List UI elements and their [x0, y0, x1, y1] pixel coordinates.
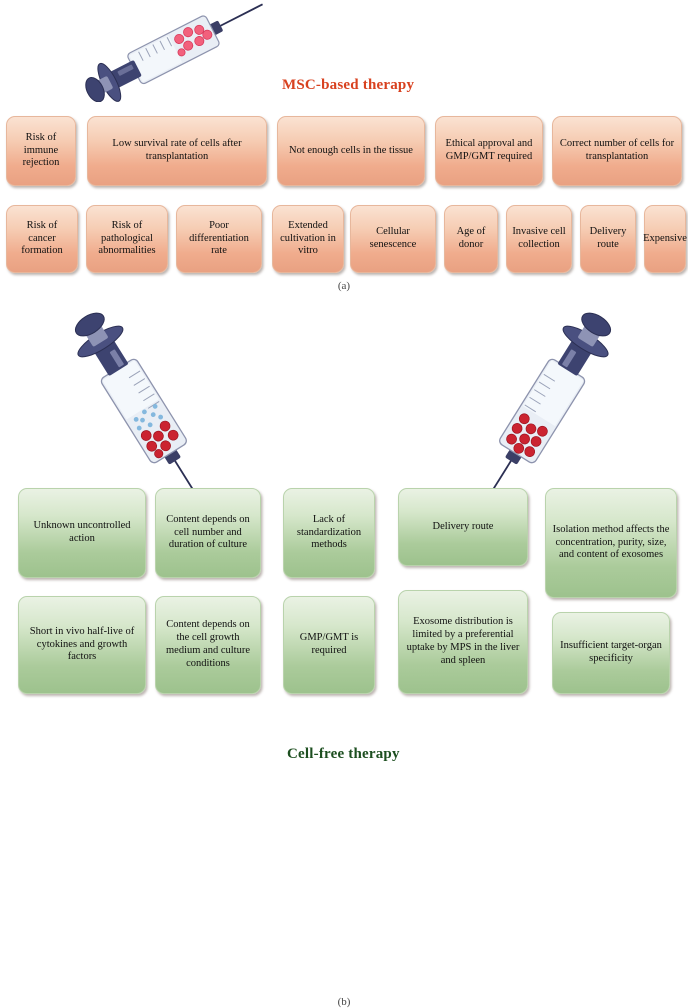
limitation-box: Not enough cells in the tissue — [277, 116, 425, 186]
limitation-box: Ethical approval and GMP/GMT required — [435, 116, 543, 186]
limitation-box: Poor differentiation rate — [176, 205, 262, 273]
limitation-text: Risk of cancer formation — [12, 220, 72, 258]
limitation-box: Risk of pathological abnormalities — [86, 205, 168, 273]
panel-caption-b: (b) — [0, 996, 688, 1008]
limitation-text: Poor differentiation rate — [182, 220, 256, 258]
syringe-with-cells-icon — [58, 2, 280, 102]
limitation-text: Cellular senescence — [356, 226, 430, 252]
limitation-text: Unknown uncontrolled action — [24, 520, 140, 546]
limitation-box: Exosome distribution is limited by a pre… — [398, 590, 528, 694]
limitation-box: Insufficient target-organ specificity — [552, 612, 670, 694]
limitation-box: Risk of cancer formation — [6, 205, 78, 273]
limitation-box: Correct number of cells for transplantat… — [552, 116, 682, 186]
limitation-text: Content depends on cell number and durat… — [161, 514, 255, 552]
limitation-text: Short in vivo half-live of cytokines and… — [24, 626, 140, 664]
limitation-text: Expensive — [643, 233, 687, 246]
limitation-text: Risk of immune rejection — [12, 132, 70, 170]
limitation-box: GMP/GMT is required — [283, 596, 375, 694]
panel-cell-free-therapy: Cell-free therapy Unknown uncontrolled a… — [0, 300, 688, 714]
syringe-with-exosomes-and-cells-icon — [22, 310, 252, 490]
limitation-text: Isolation method affects the concentrati… — [551, 524, 671, 562]
limitation-box: Invasive cell collection — [506, 205, 572, 273]
limitation-box: Lack of standardization methods — [283, 488, 375, 578]
limitation-text: Delivery route — [433, 521, 494, 534]
limitation-box: Delivery route — [580, 205, 636, 273]
limitation-box: Low survival rate of cells after transpl… — [87, 116, 267, 186]
limitation-box: Expensive — [644, 205, 686, 273]
limitation-box: Isolation method affects the concentrati… — [545, 488, 677, 598]
limitation-text: Low survival rate of cells after transpl… — [93, 138, 261, 164]
panel-msc-based-therapy: MSC-based therapy Risk of immune rejecti… — [0, 0, 688, 300]
limitation-box: Cellular senescence — [350, 205, 436, 273]
limitation-text: Lack of standardization methods — [289, 514, 369, 552]
limitation-box: Delivery route — [398, 488, 528, 566]
section-title-msc-based-therapy: MSC-based therapy — [282, 77, 414, 94]
limitation-text: Extended cultivation in vitro — [278, 220, 338, 258]
limitation-text: Invasive cell collection — [512, 226, 566, 252]
section-title-cell-free-therapy: Cell-free therapy — [287, 746, 400, 763]
limitation-box: Content depends on cell number and durat… — [155, 488, 261, 578]
syringe-with-cells-icon — [434, 310, 664, 490]
limitation-text: Exosome distribution is limited by a pre… — [404, 616, 522, 667]
panel-caption-a: (a) — [0, 280, 688, 292]
limitation-text: Ethical approval and GMP/GMT required — [441, 138, 537, 164]
limitation-box: Extended cultivation in vitro — [272, 205, 344, 273]
limitation-box: Age of donor — [444, 205, 498, 273]
limitation-text: Content depends on the cell growth mediu… — [161, 619, 255, 670]
limitation-box: Risk of immune rejection — [6, 116, 76, 186]
limitation-box: Unknown uncontrolled action — [18, 488, 146, 578]
limitation-text: Not enough cells in the tissue — [289, 145, 413, 158]
limitation-box: Content depends on the cell growth mediu… — [155, 596, 261, 694]
limitation-text: Insufficient target-organ specificity — [558, 640, 664, 666]
limitation-text: Age of donor — [450, 226, 492, 252]
limitation-text: Correct number of cells for transplantat… — [558, 138, 676, 164]
limitation-box: Short in vivo half-live of cytokines and… — [18, 596, 146, 694]
limitation-text: GMP/GMT is required — [289, 632, 369, 658]
limitation-text: Delivery route — [586, 226, 630, 252]
limitation-text: Risk of pathological abnormalities — [92, 220, 162, 258]
